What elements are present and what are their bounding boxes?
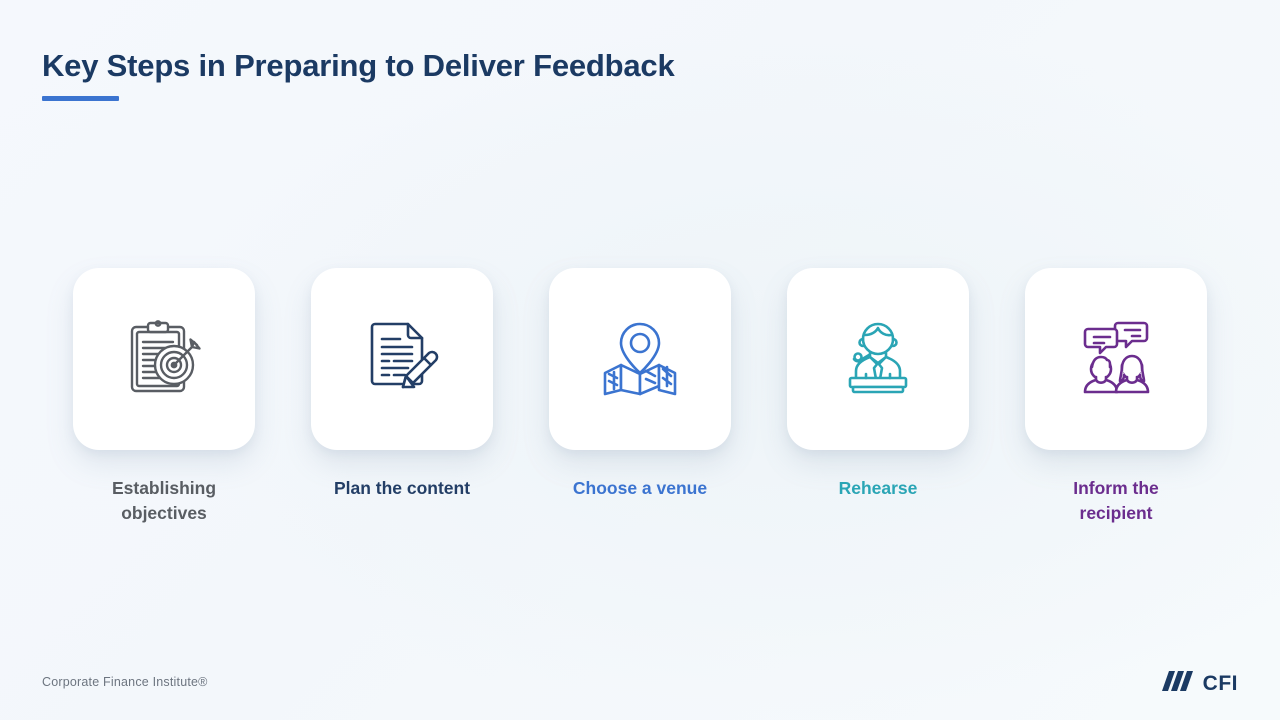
step-item-establishing-objectives[interactable]: Establishing objectives (73, 268, 255, 527)
slide: Key Steps in Preparing to Deliver Feedba… (0, 0, 1280, 720)
step-item-choose-a-venue[interactable]: Choose a venue (549, 268, 731, 527)
step-item-plan-the-content[interactable]: Plan the content (311, 268, 493, 527)
step-label: Inform the recipient (1041, 476, 1191, 527)
title-block: Key Steps in Preparing to Deliver Feedba… (42, 48, 675, 101)
title-underline-rule (42, 96, 119, 101)
clipboard-target-icon (122, 317, 206, 401)
page-title: Key Steps in Preparing to Deliver Feedba… (42, 48, 675, 84)
cfi-logo: CFI (1162, 670, 1238, 697)
map-pin-icon (597, 316, 683, 402)
step-label: Choose a venue (573, 476, 707, 501)
cfi-logo-mark-icon (1162, 670, 1196, 697)
step-card[interactable] (73, 268, 255, 450)
step-card[interactable] (1025, 268, 1207, 450)
steps-row: Establishing objectives (0, 268, 1280, 527)
step-card[interactable] (311, 268, 493, 450)
cfi-logo-text: CFI (1203, 672, 1238, 696)
step-item-rehearse[interactable]: Rehearse (787, 268, 969, 527)
step-label: Rehearse (839, 476, 918, 501)
document-pencil-icon (360, 317, 444, 401)
step-card[interactable] (787, 268, 969, 450)
step-label: Establishing objectives (89, 476, 239, 527)
step-card[interactable] (549, 268, 731, 450)
podium-speaker-icon (836, 317, 920, 401)
people-speech-bubbles-icon (1074, 317, 1158, 401)
step-item-inform-the-recipient[interactable]: Inform the recipient (1025, 268, 1207, 527)
footer-attribution: Corporate Finance Institute® (42, 675, 208, 689)
step-label: Plan the content (334, 476, 470, 501)
